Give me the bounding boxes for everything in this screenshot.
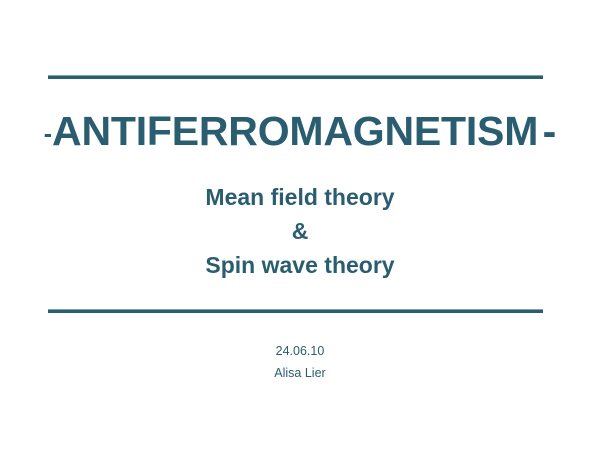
subtitle-group: Mean field theory & Spin wave theory [0,180,600,282]
top-divider-rule [48,75,543,79]
slide-footer: 24.06.10 Alisa Lier [0,340,600,384]
page-title: ANTIFERROMAGNETISM [52,108,538,154]
author-name: Alisa Lier [0,362,600,384]
bottom-divider-rule [48,309,543,313]
title-slide: -ANTIFERROMAGNETISM - Mean field theory … [0,0,600,450]
subtitle-line-3: Spin wave theory [0,248,600,282]
slide-title: -ANTIFERROMAGNETISM - [0,108,600,155]
title-trailing-dash: - [543,108,557,154]
presentation-date: 24.06.10 [0,340,600,362]
subtitle-line-1: Mean field theory [0,180,600,214]
title-leading-dash: - [44,120,52,148]
subtitle-ampersand: & [0,214,600,248]
